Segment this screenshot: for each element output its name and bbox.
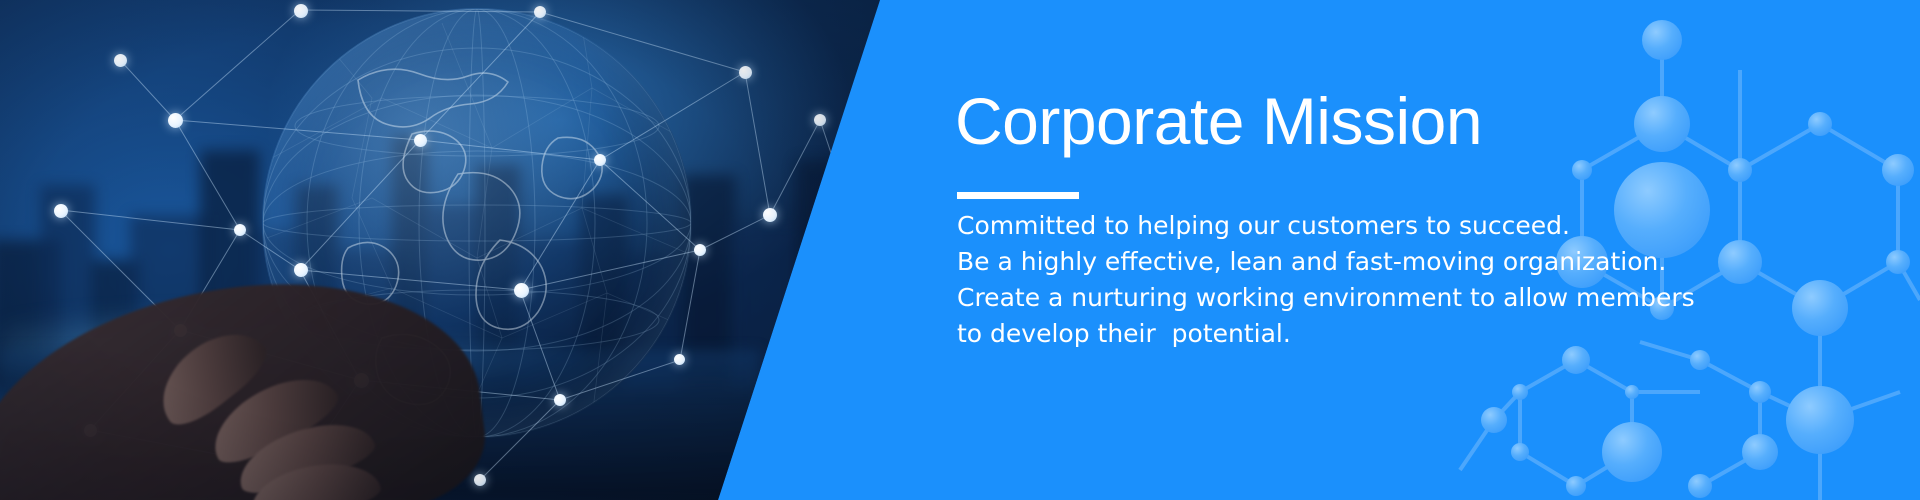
banner-photo xyxy=(0,0,890,500)
banner-content: Corporate Mission Committed to helping o… xyxy=(955,0,1655,500)
title-divider xyxy=(957,192,1079,199)
photo-vignette xyxy=(0,0,890,500)
mission-line: Create a nurturing working environment t… xyxy=(957,280,1597,316)
corporate-mission-banner: Corporate Mission Committed to helping o… xyxy=(0,0,1920,500)
mission-statement: Committed to helping our customers to su… xyxy=(957,208,1597,352)
page-title: Corporate Mission xyxy=(955,88,1482,154)
mission-line: to develop their potential. xyxy=(957,316,1597,352)
mission-line: Committed to helping our customers to su… xyxy=(957,208,1597,244)
mission-line: Be a highly effective, lean and fast-mov… xyxy=(957,244,1597,280)
